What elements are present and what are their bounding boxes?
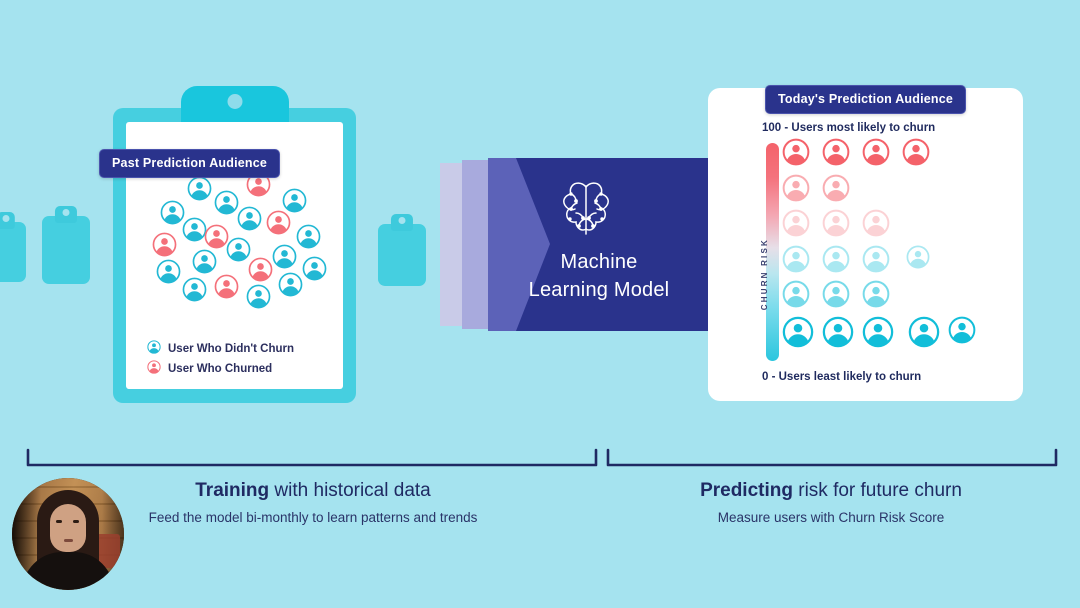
decorative-clipboard-icon — [378, 214, 426, 286]
training-title: Training with historical data — [132, 480, 494, 502]
presenter-webcam-video[interactable] — [12, 478, 124, 590]
audience-avatar — [156, 259, 181, 284]
risk-avatar — [906, 245, 930, 269]
predicting-title-rest: risk for future churn — [793, 480, 962, 501]
predicting-caption-block: Predicting risk for future churn Measure… — [600, 480, 1062, 525]
audience-avatar — [278, 272, 303, 297]
risk-avatar — [782, 245, 810, 273]
audience-avatar — [187, 176, 212, 201]
risk-avatar — [782, 280, 810, 308]
legend-label: User Who Didn't Churn — [168, 343, 294, 355]
presenter-face — [50, 504, 86, 552]
audience-avatar — [302, 256, 327, 281]
risk-avatar — [782, 138, 810, 166]
training-bracket — [26, 448, 598, 473]
risk-avatar — [822, 174, 850, 202]
caption-most-likely-to-churn: 100 - Users most likely to churn — [762, 122, 935, 134]
risk-avatar — [862, 280, 890, 308]
machine-learning-model-arrow: Machine Learning Model — [440, 157, 732, 332]
predicting-subtitle: Measure users with Churn Risk Score — [600, 510, 1062, 525]
risk-avatar — [822, 280, 850, 308]
risk-avatar — [862, 245, 890, 273]
risk-avatar — [908, 316, 940, 348]
predicting-title-bold: Predicting — [700, 480, 793, 501]
audience-avatar — [152, 232, 177, 257]
presenter-eye-right — [73, 520, 79, 523]
decorative-clipboard-icon — [42, 206, 90, 284]
audience-avatar — [248, 257, 273, 282]
training-title-rest: with historical data — [269, 480, 431, 501]
audience-avatar — [272, 244, 297, 269]
legend-label: User Who Churned — [168, 363, 272, 375]
risk-avatar — [782, 174, 810, 202]
risk-avatar — [822, 209, 850, 237]
predicting-bracket — [606, 448, 1058, 473]
risk-avatar — [862, 316, 894, 348]
training-subtitle: Feed the model bi-monthly to learn patte… — [132, 510, 494, 525]
decorative-clipboard-icon — [0, 212, 26, 282]
slide-canvas: Past Prediction Audience User Who Didn't… — [0, 0, 1080, 608]
training-caption-block: Training with historical data Feed the m… — [132, 480, 494, 525]
presenter-mouth — [64, 539, 73, 542]
risk-avatar — [822, 138, 850, 166]
caption-least-likely-to-churn: 0 - Users least likely to churn — [762, 371, 921, 383]
todays-prediction-audience-badge: Today's Prediction Audience — [765, 85, 966, 114]
clipboard-clip-hole — [227, 94, 242, 109]
audience-avatar — [182, 277, 207, 302]
churn-risk-avatar-grid — [782, 138, 1012, 353]
legend-item-not-churned: User Who Didn't Churn — [147, 340, 294, 357]
risk-avatar — [782, 316, 814, 348]
audience-avatar — [214, 274, 239, 299]
risk-avatar — [822, 245, 850, 273]
audience-avatar — [214, 190, 239, 215]
risk-avatar — [862, 209, 890, 237]
audience-avatar — [246, 284, 271, 309]
audience-avatar — [296, 224, 321, 249]
legend-item-churned: User Who Churned — [147, 360, 272, 377]
risk-avatar — [902, 138, 930, 166]
todays-prediction-panel — [708, 88, 1023, 401]
risk-avatar — [822, 316, 854, 348]
risk-avatar — [948, 316, 976, 344]
past-prediction-audience-badge: Past Prediction Audience — [99, 149, 280, 178]
predicting-title: Predicting risk for future churn — [600, 480, 1062, 502]
audience-avatar — [237, 206, 262, 231]
user-icon — [147, 340, 161, 357]
presenter-eye-left — [56, 520, 62, 523]
training-title-bold: Training — [195, 480, 269, 501]
audience-avatar — [266, 210, 291, 235]
user-icon — [147, 360, 161, 377]
churn-risk-axis-label: CHURN RISK — [760, 238, 786, 310]
risk-avatar — [862, 138, 890, 166]
audience-avatar — [192, 249, 217, 274]
risk-avatar — [782, 209, 810, 237]
